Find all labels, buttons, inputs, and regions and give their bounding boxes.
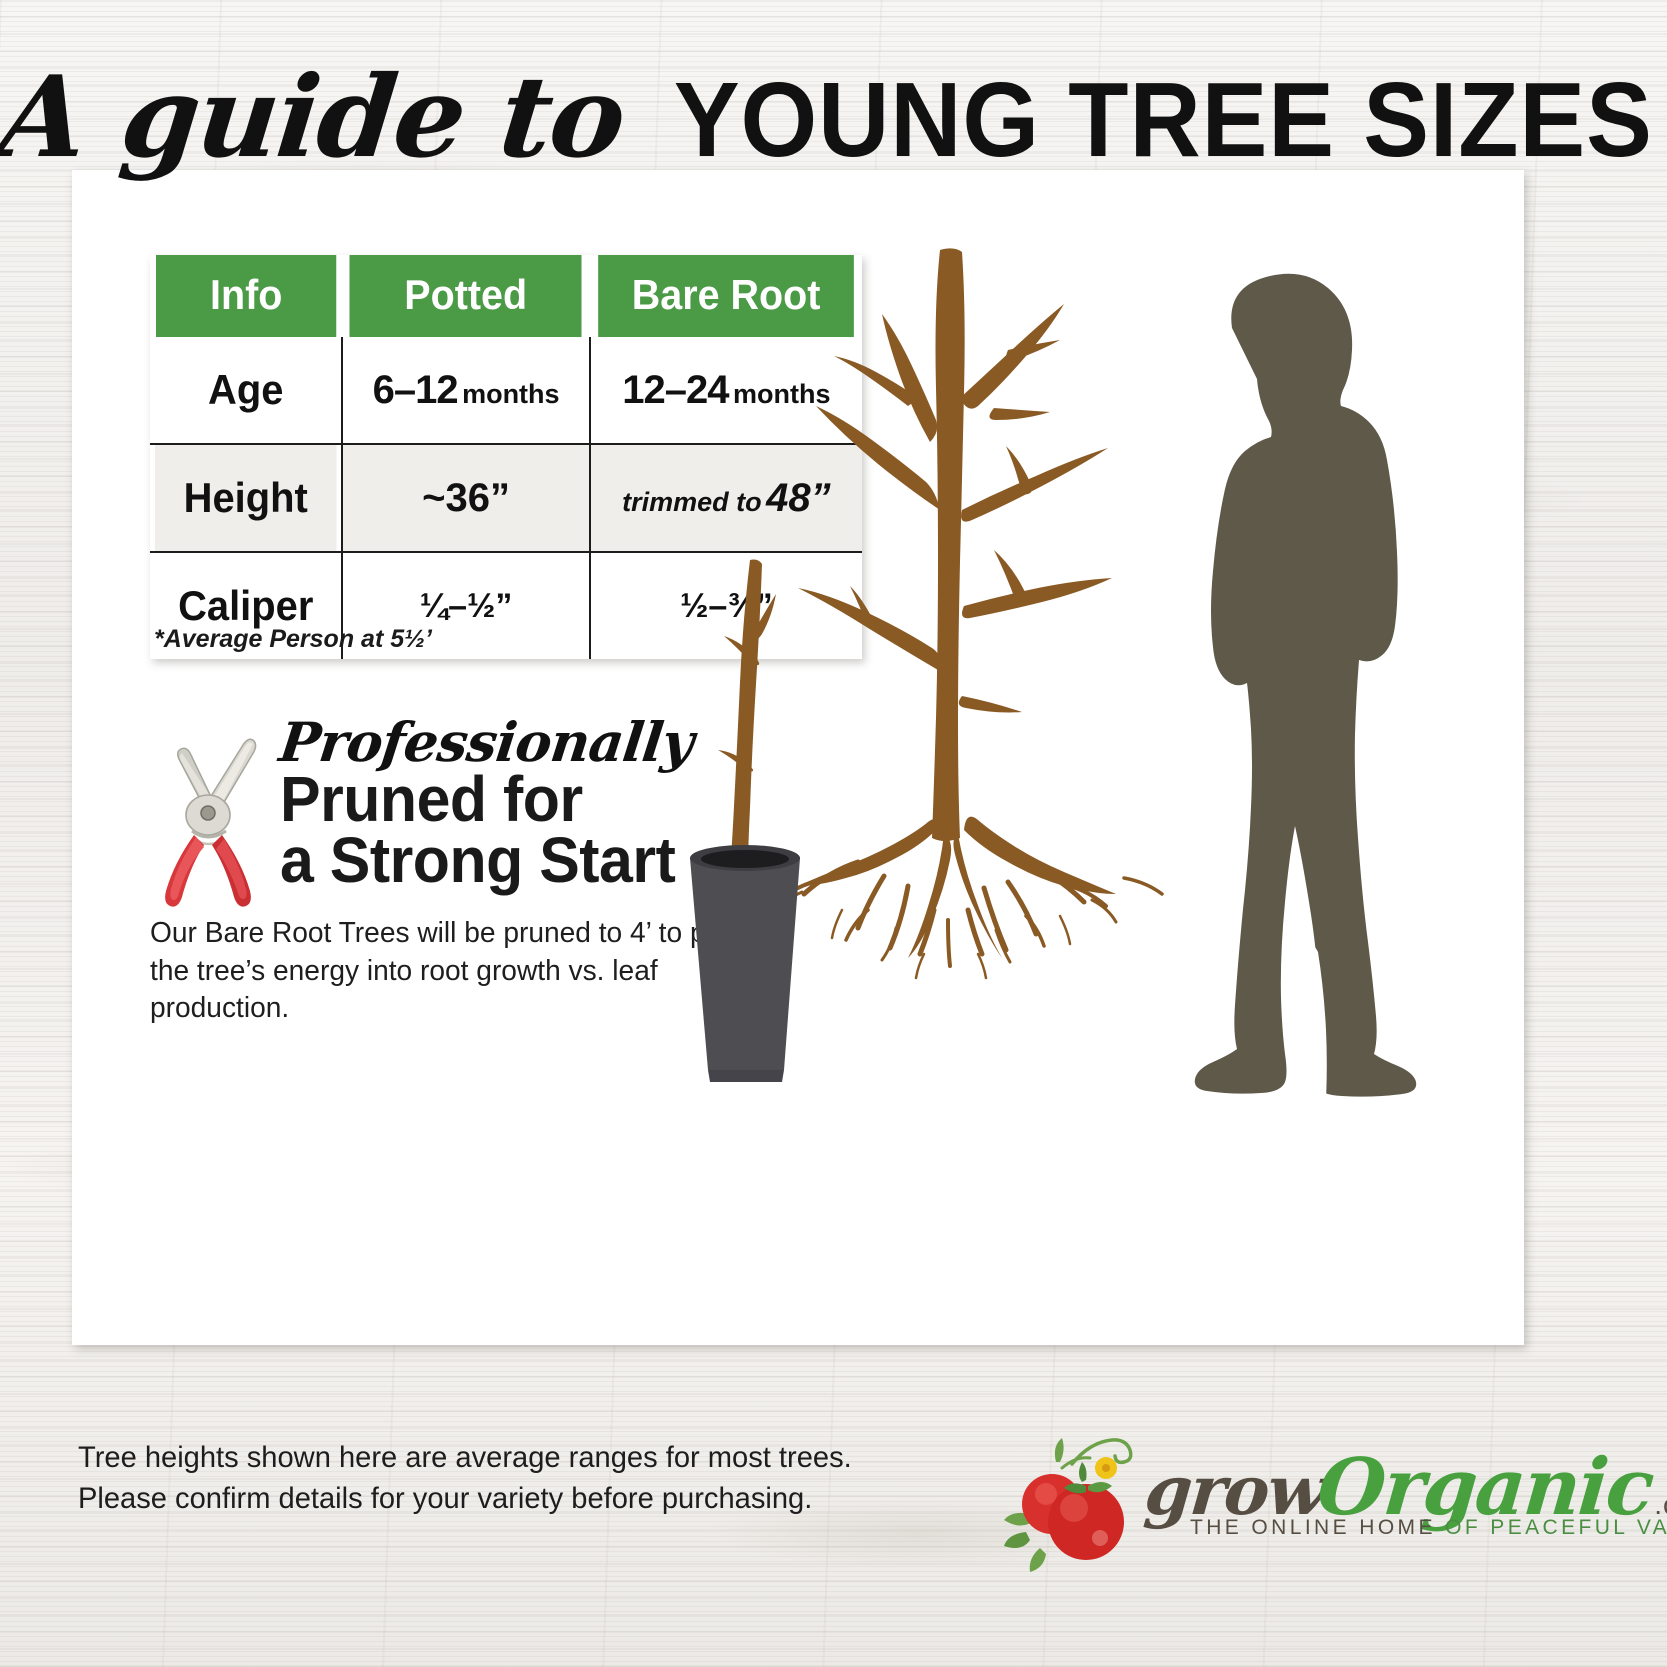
table-header-potted: Potted bbox=[350, 255, 583, 337]
pruned-bold-line-2: a Strong Start bbox=[280, 830, 675, 891]
pruning-shears-icon bbox=[150, 723, 280, 913]
title-block-part: YOUNG TREE SIZES bbox=[674, 60, 1653, 181]
logo-tagline-part-1: THE ONLINE HOME bbox=[1190, 1516, 1436, 1539]
cell-height-potted-value: ~36” bbox=[422, 476, 510, 520]
potted-tree-illustration bbox=[690, 560, 800, 1083]
row-label-age: Age bbox=[155, 337, 338, 444]
bare-root-tree-illustration bbox=[738, 248, 1162, 978]
pruned-body-line-1: Our Bare Root Trees will be pruned to 4’… bbox=[150, 915, 732, 953]
pruned-script-line: Professionally bbox=[277, 715, 696, 769]
pruned-heading: Professionally Pruned for a Strong Start bbox=[280, 715, 696, 892]
disclaimer-line-1: Tree heights shown here are average rang… bbox=[78, 1437, 852, 1478]
person-silhouette bbox=[1195, 274, 1416, 1208]
pruned-body-text: Our Bare Root Trees will be pruned to 4’… bbox=[150, 915, 732, 1028]
tree-size-illustration bbox=[672, 210, 1512, 1330]
logo-tagline: THE ONLINE HOME OF PEACEFUL VALLEY bbox=[1190, 1516, 1667, 1540]
grow-organic-logo[interactable]: growOrganic.com THE ONLINE HOME OF PEACE… bbox=[1000, 1390, 1600, 1580]
disclaimer-text: Tree heights shown here are average rang… bbox=[78, 1437, 852, 1520]
cell-height-potted: ~36” bbox=[342, 444, 589, 552]
pruned-bold-line-1: Pruned for bbox=[280, 769, 675, 830]
disclaimer-line-2: Please confirm details for your variety … bbox=[78, 1478, 852, 1519]
title-script-part: A guide to bbox=[0, 52, 630, 183]
table-header-info: Info bbox=[156, 255, 337, 337]
page-title: A guide toYOUNG TREE SIZES bbox=[0, 52, 1667, 183]
cell-age-potted-unit: months bbox=[462, 379, 560, 409]
pruned-body-line-2: the tree’s energy into root growth vs. l… bbox=[150, 953, 732, 1028]
average-person-footnote: *Average Person at 5½’ bbox=[154, 625, 432, 654]
row-label-height: Height bbox=[155, 444, 338, 552]
cell-age-potted: 6–12 months bbox=[342, 337, 589, 444]
logo-tagline-part-2: OF PEACEFUL VALLEY bbox=[1445, 1516, 1667, 1539]
infographic-card: Info Potted Bare Root Age 6–12 months 12… bbox=[72, 170, 1524, 1345]
cell-age-potted-value: 6–12 bbox=[373, 368, 458, 412]
cell-caliper-potted-value: ¼–½” bbox=[420, 587, 513, 625]
